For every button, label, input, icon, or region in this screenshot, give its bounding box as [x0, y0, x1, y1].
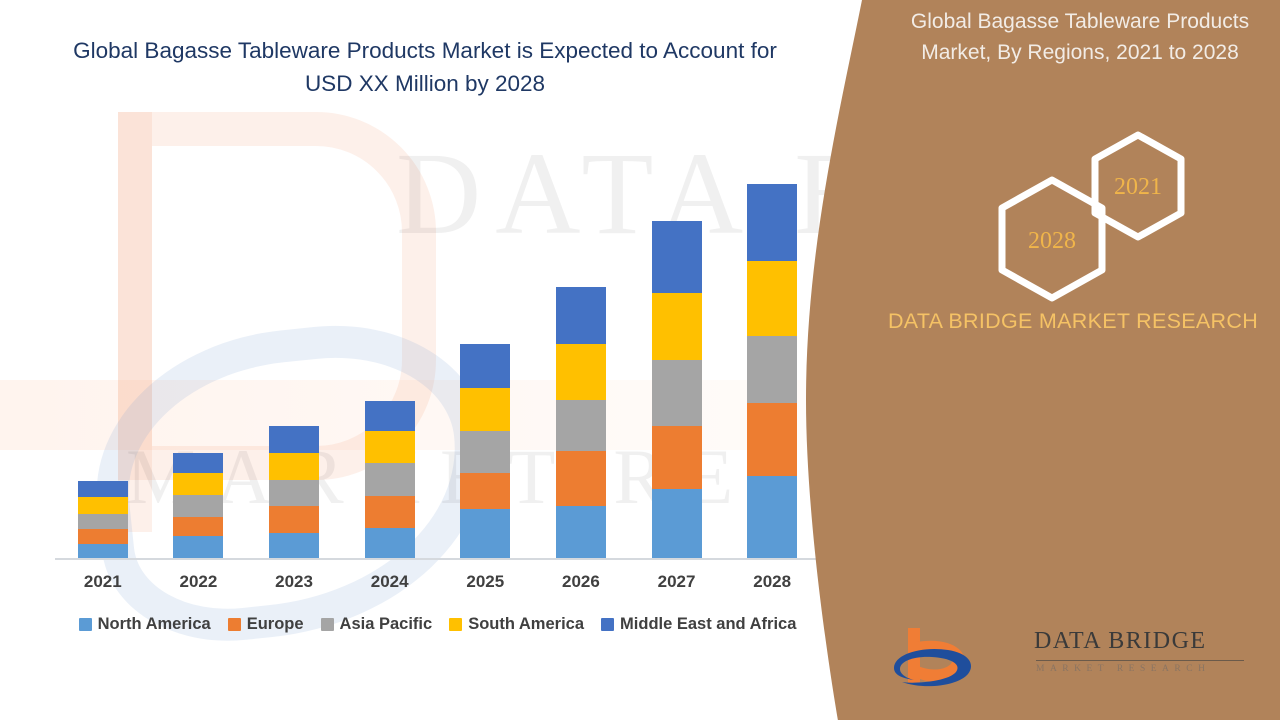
chart-title: Global Bagasse Tableware Products Market…	[60, 34, 790, 100]
x-tick-2028: 2028	[724, 572, 820, 600]
bar-segment-europe	[747, 403, 797, 476]
bar-segment-north-america	[173, 536, 223, 558]
bar-segment-north-america	[460, 509, 510, 558]
legend-item-europe[interactable]: Europe	[228, 615, 304, 634]
x-tick-2026: 2026	[533, 572, 629, 600]
bar-segment-north-america	[269, 533, 319, 558]
bar-segment-asia-pacific	[173, 495, 223, 517]
x-tick-2022: 2022	[151, 572, 247, 600]
bar-segment-south-america	[365, 431, 415, 463]
x-tick-2023: 2023	[246, 572, 342, 600]
x-tick-2021: 2021	[55, 572, 151, 600]
stacked-bar	[652, 221, 702, 558]
bar-column-2025	[438, 170, 534, 558]
bar-segment-north-america	[365, 528, 415, 558]
bar-segment-europe	[78, 529, 128, 544]
infographic-canvas: DATA BRIDGE MARKET RESEARCH Global Bagas…	[0, 0, 1280, 720]
x-axis-line	[55, 558, 820, 560]
hexagon-group: 2028 2021	[866, 120, 1280, 290]
bar-column-2027	[629, 170, 725, 558]
legend-label: Europe	[247, 615, 304, 634]
bar-segment-south-america	[652, 293, 702, 360]
bar-segment-south-america	[556, 344, 606, 400]
legend-swatch-icon	[449, 618, 462, 631]
bar-segment-middle-east-and-africa	[460, 344, 510, 388]
logo-divider	[1036, 660, 1244, 661]
legend-swatch-icon	[228, 618, 241, 631]
bar-segment-middle-east-and-africa	[78, 481, 128, 497]
stacked-bar	[365, 401, 415, 558]
bar-segment-middle-east-and-africa	[269, 426, 319, 453]
bar-column-2022	[151, 170, 247, 558]
stacked-bar	[173, 453, 223, 558]
bar-segment-south-america	[747, 261, 797, 336]
hexagon-2021-icon	[1088, 130, 1188, 242]
bar-segment-asia-pacific	[460, 431, 510, 473]
chart-plot-area	[55, 170, 820, 560]
bar-segment-asia-pacific	[269, 480, 319, 506]
bar-segment-middle-east-and-africa	[652, 221, 702, 293]
logo-tagline: MARKET RESEARCH	[1036, 664, 1210, 674]
bar-column-2028	[724, 170, 820, 558]
bar-segment-north-america	[78, 544, 128, 558]
legend-item-asia-pacific[interactable]: Asia Pacific	[321, 615, 433, 634]
logo-mark-icon	[886, 620, 1026, 700]
stacked-bar	[269, 426, 319, 558]
company-logo: DATA BRIDGE MARKET RESEARCH	[886, 620, 1266, 700]
stacked-bar	[460, 344, 510, 558]
x-axis-tick-labels: 20212022202320242025202620272028	[55, 572, 820, 600]
bar-segment-middle-east-and-africa	[365, 401, 415, 431]
legend-label: North America	[98, 615, 211, 634]
legend-item-south-america[interactable]: South America	[449, 615, 584, 634]
hexagon-2028-label: 2028	[994, 228, 1110, 255]
bar-segment-middle-east-and-africa	[747, 184, 797, 261]
hexagon-2021-label: 2021	[1088, 174, 1188, 201]
bar-segment-asia-pacific	[652, 360, 702, 426]
bar-segment-europe	[556, 451, 606, 506]
legend-swatch-icon	[601, 618, 614, 631]
bar-column-2024	[342, 170, 438, 558]
hexagon-2028-icon	[994, 175, 1110, 303]
bar-segment-south-america	[173, 473, 223, 495]
legend-swatch-icon	[321, 618, 334, 631]
bar-segment-asia-pacific	[365, 463, 415, 496]
stacked-bar	[78, 481, 128, 558]
bar-group	[55, 170, 820, 558]
bar-column-2023	[246, 170, 342, 558]
logo-wordmark: DATA BRIDGE	[1034, 628, 1207, 655]
bar-segment-asia-pacific	[556, 400, 606, 451]
bar-segment-south-america	[78, 497, 128, 514]
bar-segment-middle-east-and-africa	[556, 287, 606, 344]
x-tick-2027: 2027	[629, 572, 725, 600]
panel-brand-name: DATA BRIDGE MARKET RESEARCH	[873, 305, 1273, 337]
bar-segment-asia-pacific	[747, 336, 797, 403]
bar-segment-north-america	[747, 476, 797, 558]
bar-segment-south-america	[269, 453, 319, 480]
legend-item-north-america[interactable]: North America	[79, 615, 211, 634]
bar-segment-north-america	[652, 489, 702, 558]
x-tick-2024: 2024	[342, 572, 438, 600]
x-tick-2025: 2025	[438, 572, 534, 600]
bar-segment-middle-east-and-africa	[173, 453, 223, 473]
bar-column-2021	[55, 170, 151, 558]
panel-title: Global Bagasse Tableware Products Market…	[880, 6, 1280, 68]
legend-swatch-icon	[79, 618, 92, 631]
stacked-bar	[747, 184, 797, 558]
bar-column-2026	[533, 170, 629, 558]
legend-label: South America	[468, 615, 584, 634]
bar-segment-europe	[460, 473, 510, 509]
bar-segment-europe	[269, 506, 319, 533]
stacked-bar	[556, 287, 606, 558]
chart-legend: North AmericaEuropeAsia PacificSouth Ame…	[55, 615, 820, 634]
legend-item-middle-east-and-africa[interactable]: Middle East and Africa	[601, 615, 796, 634]
bar-segment-europe	[652, 426, 702, 489]
legend-label: Middle East and Africa	[620, 615, 796, 634]
bar-segment-south-america	[460, 388, 510, 431]
bar-segment-europe	[365, 496, 415, 528]
bar-segment-europe	[173, 517, 223, 536]
bar-segment-asia-pacific	[78, 514, 128, 529]
legend-label: Asia Pacific	[340, 615, 433, 634]
bar-segment-north-america	[556, 506, 606, 558]
